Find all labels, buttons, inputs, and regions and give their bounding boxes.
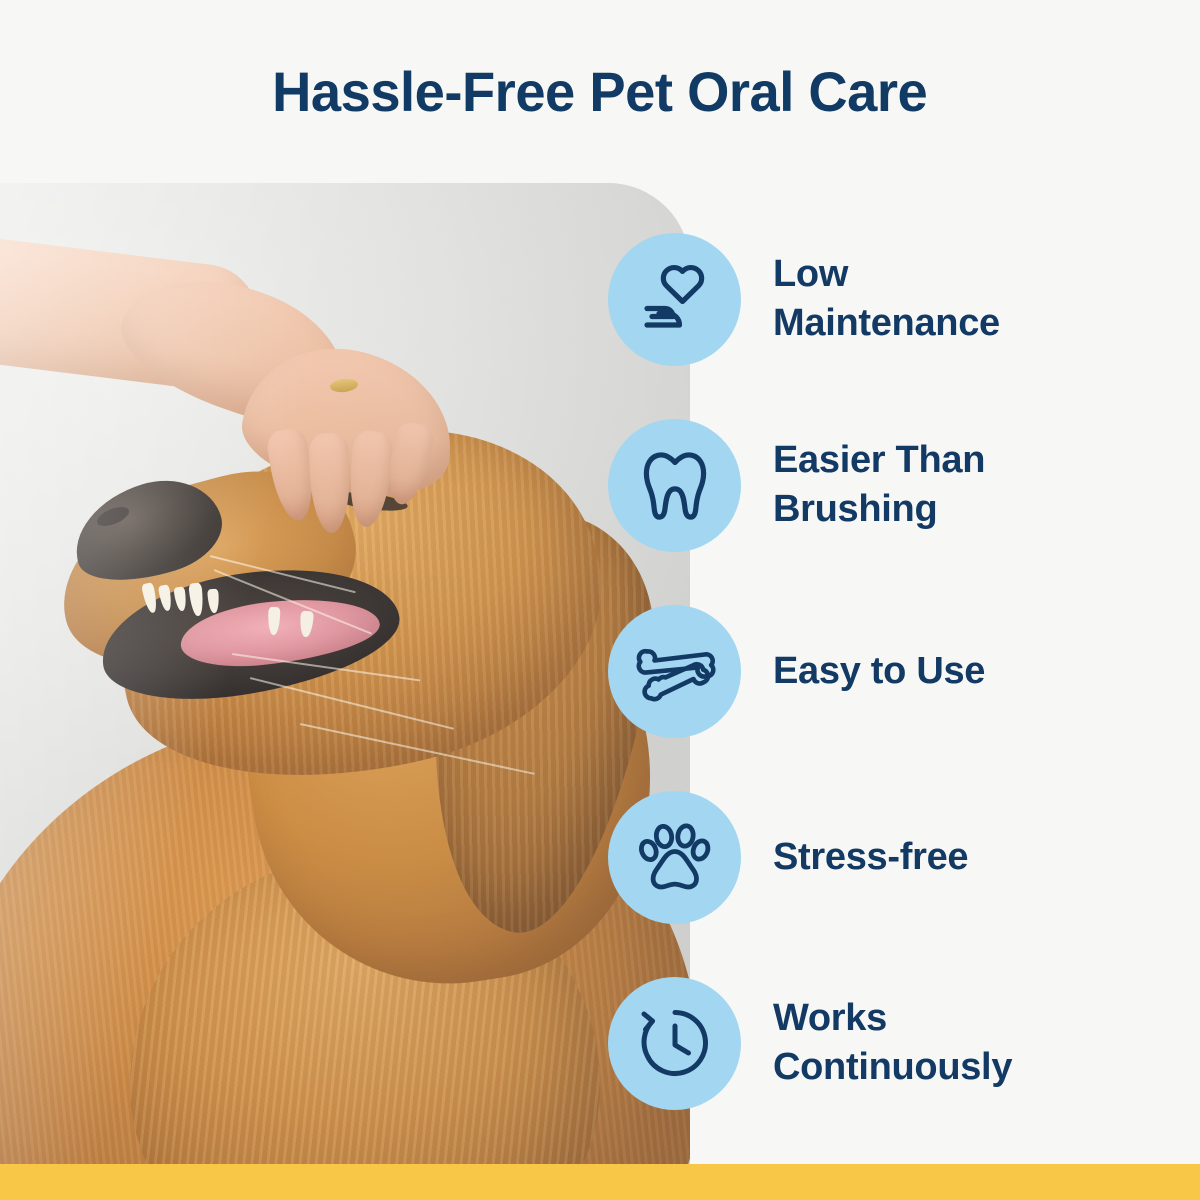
- tooth-icon: [608, 419, 741, 552]
- feature-item-low-maintenance: Low Maintenance: [608, 232, 1168, 366]
- feature-item-easier-than-brushing: Easier Than Brushing: [608, 418, 1168, 552]
- feature-label: Works Continuously: [773, 994, 1012, 1092]
- feature-item-works-continuously: Works Continuously: [608, 976, 1168, 1110]
- feature-label: Stress-free: [773, 833, 968, 882]
- dog-photo: [0, 183, 690, 1164]
- feature-item-stress-free: Stress-free: [608, 790, 1168, 924]
- product-feature-banner: Hassle-Free Pet Oral Care: [0, 0, 1200, 1200]
- crossed-bones-icon: [608, 605, 741, 738]
- page-title: Hassle-Free Pet Oral Care: [263, 64, 938, 120]
- feature-label: Low Maintenance: [773, 250, 1000, 348]
- header: Hassle-Free Pet Oral Care: [0, 0, 1200, 183]
- clock-rotate-icon: [608, 977, 741, 1110]
- feature-list: Low Maintenance Easier Than Brushing Eas…: [608, 232, 1168, 1110]
- feature-label: Easy to Use: [773, 647, 985, 696]
- heart-in-hand-icon: [608, 233, 741, 366]
- bottom-accent-bar: [0, 1164, 1200, 1200]
- paw-print-icon: [608, 791, 741, 924]
- photo-lighting-overlay: [0, 183, 690, 1164]
- feature-item-easy-to-use: Easy to Use: [608, 604, 1168, 738]
- feature-label: Easier Than Brushing: [773, 436, 985, 534]
